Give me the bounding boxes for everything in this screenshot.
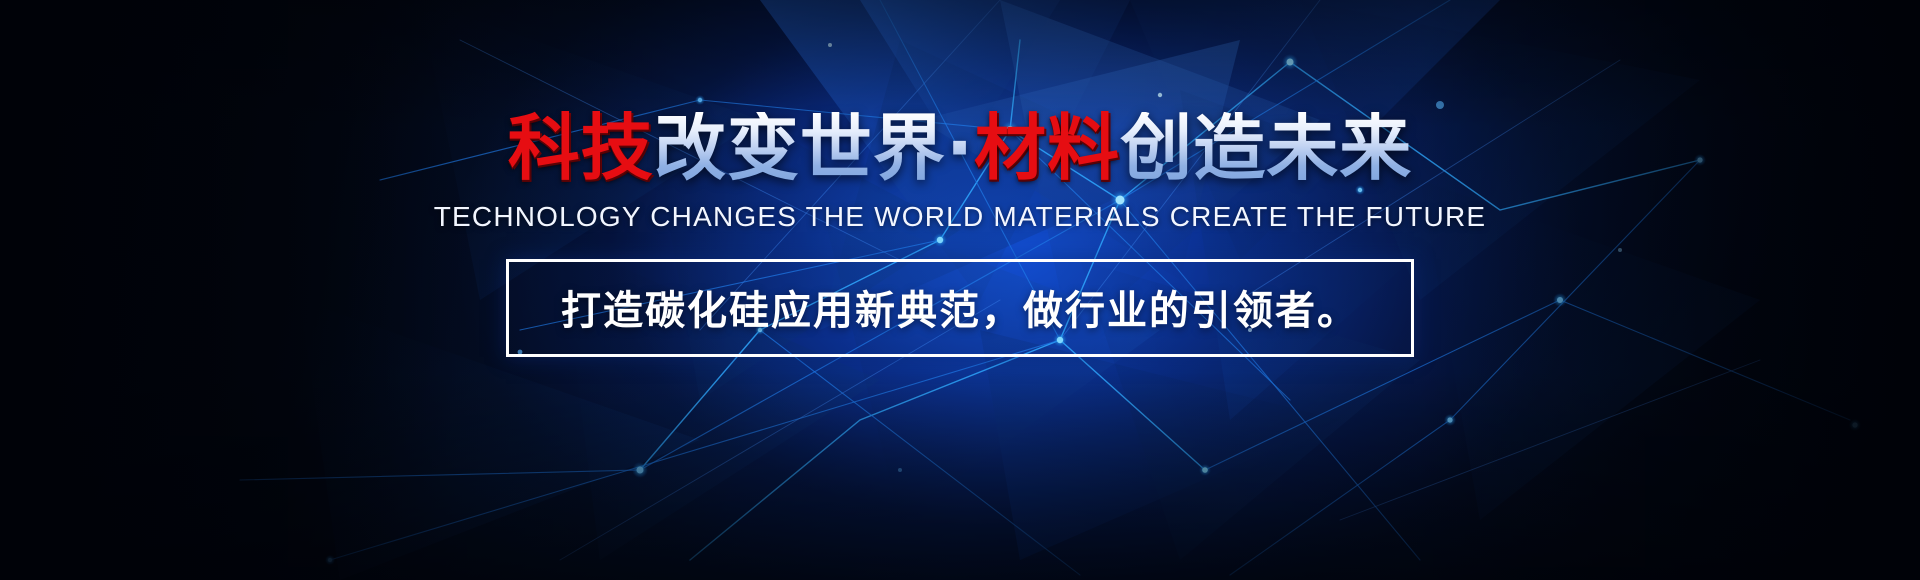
headline-segment-2: 改变世界·	[654, 112, 974, 185]
banner-tagline: 打造碳化硅应用新典范，做行业的引领者。	[561, 278, 1359, 336]
banner-content: 科技改变世界·材料创造未来 TECHNOLOGY CHANGES THE WOR…	[0, 0, 1920, 580]
headline-segment-1: 科技	[508, 112, 654, 185]
banner-headline: 科技改变世界·材料创造未来	[508, 112, 1412, 185]
tagline-box: 打造碳化硅应用新典范，做行业的引领者。	[506, 259, 1414, 357]
banner-subtitle-english: TECHNOLOGY CHANGES THE WORLD MATERIALS C…	[434, 201, 1487, 233]
headline-segment-4: 创造未来	[1120, 112, 1412, 185]
headline-segment-3: 材料	[974, 112, 1120, 185]
hero-banner: 科技改变世界·材料创造未来 TECHNOLOGY CHANGES THE WOR…	[0, 0, 1920, 580]
